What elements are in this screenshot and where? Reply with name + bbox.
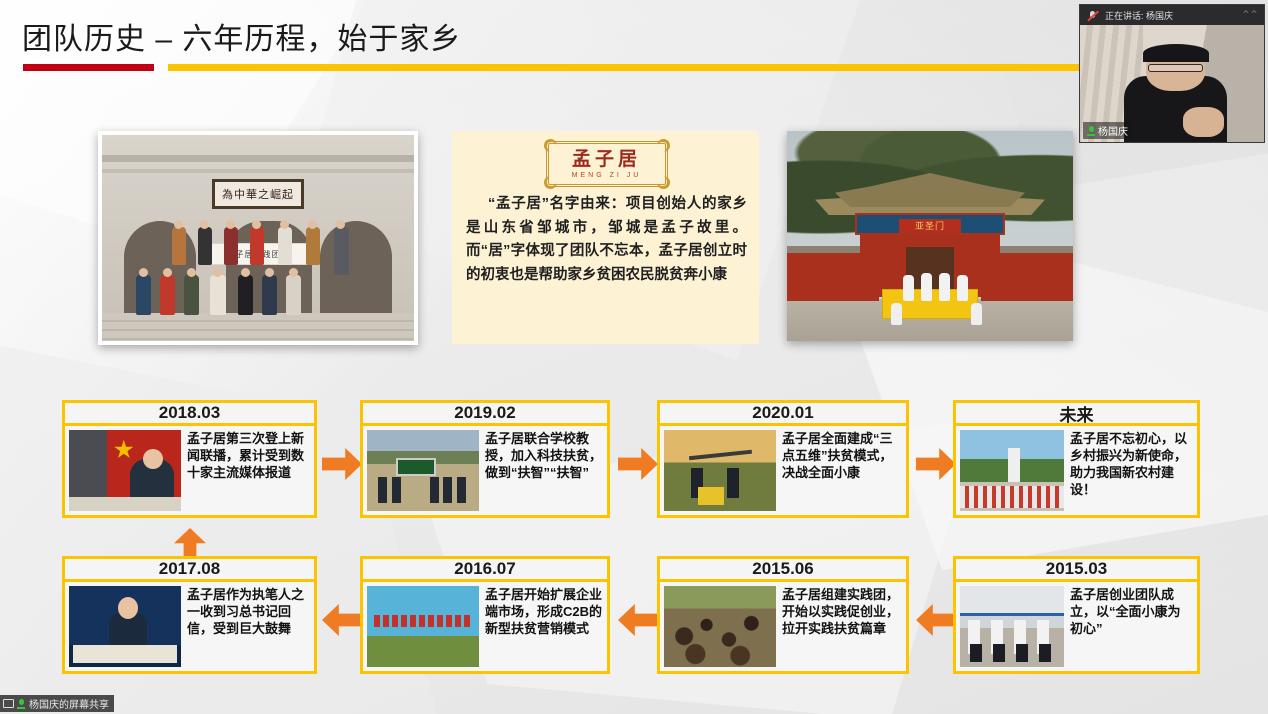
timeline-card-future[interactable]: 未来 孟子居不忘初心，以乡村振兴为新使命，助力我国新农村建设！ xyxy=(953,400,1200,518)
timeline-card-2015-06[interactable]: 2015.06 孟子居组建实践团，开始以实践促创业，拉开实践扶贫篇章 xyxy=(657,556,909,674)
screen-share-icon xyxy=(3,699,14,708)
timeline-year: 2019.02 xyxy=(360,400,610,426)
logo-corner-icon xyxy=(657,176,670,189)
logo-text-cn: 孟子居 xyxy=(572,150,641,169)
timeline-thumbnail xyxy=(367,430,479,511)
arrow-left-icon xyxy=(916,604,956,636)
participant-name-badge: 杨国庆 xyxy=(1083,122,1132,139)
arrow-right-icon xyxy=(322,448,362,480)
timeline-year: 2015.06 xyxy=(657,556,909,582)
arrow-left-icon xyxy=(322,604,362,636)
chevron-collapse-icon[interactable]: ⌃⌃ xyxy=(1241,8,1257,22)
arrow-right-icon xyxy=(916,448,956,480)
timeline-card-2016-07[interactable]: 2016.07 孟子居开始扩展企业端市场，形成C2B的新型扶贫营销模式 xyxy=(360,556,610,674)
timeline-thumbnail xyxy=(664,586,776,667)
team-photo-left: 為中華之崛起 孟子居实践团队 xyxy=(98,131,418,345)
timeline-thumbnail xyxy=(69,430,181,511)
participant-name: 杨国庆 xyxy=(1098,123,1128,138)
timeline-card-2020-01[interactable]: 2020.01 孟子居全面建成“三点五维”扶贫模式，决战全面小康 xyxy=(657,400,909,518)
timeline-description: 孟子居全面建成“三点五维”扶贫模式，决战全面小康 xyxy=(782,430,902,511)
name-origin-text: “孟子居”名字由来：项目创始人的家乡是山东省邹城市，邹城是孟子故里。而“居”字体… xyxy=(466,193,747,288)
screen-share-status-bar: 杨国庆的屏幕共享 xyxy=(0,695,114,712)
timeline-year: 2020.01 xyxy=(657,400,909,426)
timeline-description: 孟子居创业团队成立，以“全面小康为初心” xyxy=(1070,586,1193,667)
logo-corner-icon xyxy=(657,139,670,152)
timeline-year: 未来 xyxy=(953,400,1200,426)
timeline-year: 2015.03 xyxy=(953,556,1200,582)
timeline-description: 孟子居不忘初心，以乡村振兴为新使命，助力我国新农村建设！ xyxy=(1070,430,1193,511)
page-title: 团队历史 – 六年历程，始于家乡 xyxy=(22,14,461,58)
timeline-year: 2018.03 xyxy=(62,400,317,426)
temple-photo-right: 亚圣门 xyxy=(787,131,1073,341)
timeline-thumbnail xyxy=(367,586,479,667)
logo-corner-icon xyxy=(544,176,557,189)
timeline-thumbnail xyxy=(960,430,1064,511)
timeline-description: 孟子居联合学校教授，加入科技扶贫，做到“扶智”“扶智” xyxy=(485,430,603,511)
timeline-card-2017-08[interactable]: 2017.08 孟子居作为执笔人之一收到习总书记回信，受到巨大鼓舞 xyxy=(62,556,317,674)
mic-on-icon xyxy=(17,699,25,709)
mic-on-icon xyxy=(1087,126,1095,136)
timeline-thumbnail xyxy=(960,586,1064,667)
arrow-right-icon xyxy=(618,448,658,480)
timeline-description: 孟子居开始扩展企业端市场，形成C2B的新型扶贫营销模式 xyxy=(485,586,603,667)
share-status-label: 杨国庆的屏幕共享 xyxy=(29,696,109,711)
timeline-description: 孟子居组建实践团，开始以实践促创业，拉开实践扶贫篇章 xyxy=(782,586,902,667)
timeline-year: 2016.07 xyxy=(360,556,610,582)
logo-corner-icon xyxy=(544,139,557,152)
presentation-slide: 团队历史 – 六年历程，始于家乡 為中華之崛起 孟子居实践团队 xyxy=(0,0,1268,714)
timeline-card-2015-03[interactable]: 2015.03 孟子居创业团队成立，以“全面小康为初心” xyxy=(953,556,1200,674)
timeline-description: 孟子居作为执笔人之一收到习总书记回信，受到巨大鼓舞 xyxy=(187,586,310,667)
timeline-description: 孟子居第三次登上新闻联播，累计受到数十家主流媒体报道 xyxy=(187,430,310,511)
timeline-year: 2017.08 xyxy=(62,556,317,582)
speaking-label: 正在讲话: 杨国庆 xyxy=(1105,9,1173,22)
timeline-card-2018-03[interactable]: 2018.03 孟子居第三次登上新闻联播，累计受到数十家主流媒体报道 xyxy=(62,400,317,518)
building-plaque: 為中華之崛起 xyxy=(212,179,304,209)
logo-text-en: MENG ZI JU xyxy=(572,172,642,179)
mic-muted-icon[interactable] xyxy=(1087,10,1098,21)
building-backdrop: 為中華之崛起 孟子居实践团队 xyxy=(102,135,414,341)
arrow-left-icon xyxy=(618,604,658,636)
video-overlay-header: 正在讲话: 杨国庆 ⌃⌃ xyxy=(1080,5,1264,25)
title-underline-gold xyxy=(168,64,1098,71)
name-origin-card: 孟子居 MENG ZI JU “孟子居”名字由来：项目创始人的家乡是山东省邹城市… xyxy=(452,131,759,344)
timeline-thumbnail xyxy=(664,430,776,511)
video-overlay-panel[interactable]: 正在讲话: 杨国庆 ⌃⌃ 杨国庆 xyxy=(1079,4,1265,143)
brand-logo: 孟子居 MENG ZI JU xyxy=(546,141,668,187)
timeline-thumbnail xyxy=(69,586,181,667)
gate-plaque: 亚圣门 xyxy=(899,219,961,233)
timeline-card-2019-02[interactable]: 2019.02 孟子居联合学校教授，加入科技扶贫，做到“扶智”“扶智” xyxy=(360,400,610,518)
title-underline xyxy=(23,64,1098,71)
video-feed[interactable]: 杨国庆 xyxy=(1080,25,1264,142)
title-underline-red xyxy=(23,64,154,71)
